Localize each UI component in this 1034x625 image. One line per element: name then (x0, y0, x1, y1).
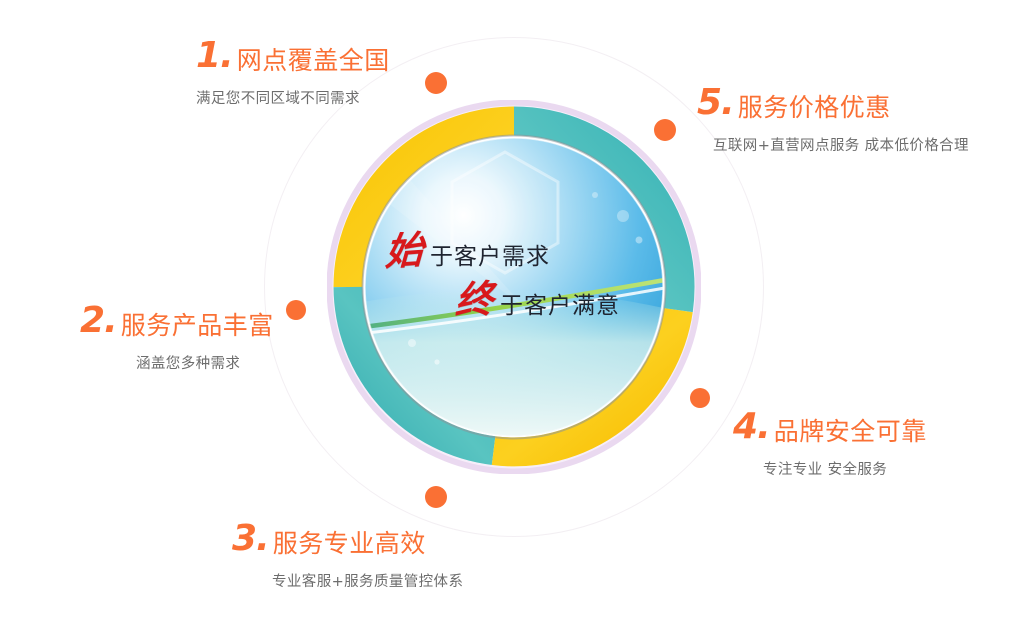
bullet-dot-2 (286, 300, 306, 320)
segmented-ring-chart (327, 100, 701, 474)
feature-item-2: 2. 服务产品丰富 涵盖您多种需求 (80, 303, 274, 373)
feature-item-3-head: 3. 服务专业高效 (232, 521, 463, 557)
feature-item-1-subtitle: 满足您不同区域不同需求 (196, 87, 390, 108)
feature-item-5-subtitle: 互联网+直营网点服务 成本低价格合理 (713, 134, 969, 155)
feature-item-4-title: 品牌安全可靠 (774, 419, 927, 444)
infographic-canvas: 始 于客户需求 终 于客户满意 1. 网点覆盖全国 满足您不同区域不同需求 2.… (0, 0, 1034, 625)
feature-item-4-head: 4. 品牌安全可靠 (733, 409, 927, 445)
feature-item-1-head: 1. 网点覆盖全国 (196, 38, 390, 74)
bullet-dot-5 (654, 119, 676, 141)
feature-item-4-number: 4. (733, 409, 770, 445)
bullet-dot-4 (690, 388, 710, 408)
feature-item-2-head: 2. 服务产品丰富 (80, 303, 274, 339)
feature-item-3-number: 3. (232, 521, 269, 557)
feature-item-3: 3. 服务专业高效 专业客服+服务质量管控体系 (232, 521, 463, 591)
bullet-dot-1 (425, 72, 447, 94)
feature-item-1-number: 1. (196, 38, 233, 74)
feature-item-1-title: 网点覆盖全国 (237, 48, 390, 73)
feature-item-1: 1. 网点覆盖全国 满足您不同区域不同需求 (196, 38, 390, 108)
bullet-dot-3 (425, 486, 447, 508)
feature-item-5-number: 5. (697, 85, 734, 121)
feature-item-3-title: 服务专业高效 (273, 531, 426, 556)
feature-item-4-subtitle: 专注专业 安全服务 (763, 458, 927, 479)
feature-item-5: 5. 服务价格优惠 互联网+直营网点服务 成本低价格合理 (697, 85, 969, 155)
feature-item-3-subtitle: 专业客服+服务质量管控体系 (272, 570, 463, 591)
feature-item-5-head: 5. 服务价格优惠 (697, 85, 969, 121)
feature-item-2-subtitle: 涵盖您多种需求 (136, 352, 274, 373)
feature-item-2-number: 2. (80, 303, 117, 339)
feature-item-5-title: 服务价格优惠 (738, 95, 891, 120)
feature-item-2-title: 服务产品丰富 (121, 313, 274, 338)
feature-item-4: 4. 品牌安全可靠 专注专业 安全服务 (733, 409, 927, 479)
